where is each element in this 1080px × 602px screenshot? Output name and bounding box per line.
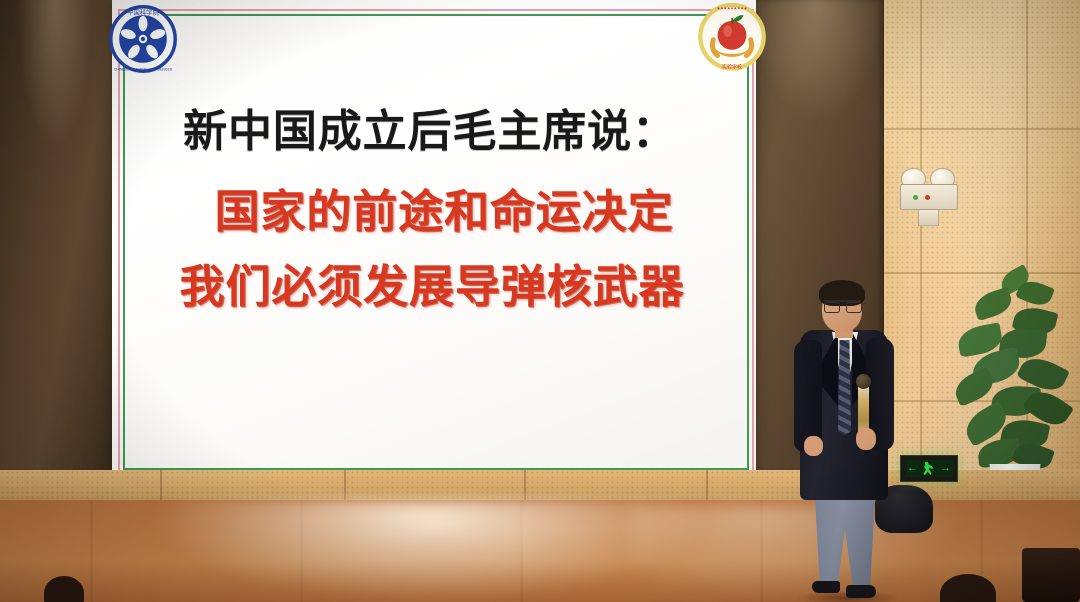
slide-line-1: 国家的前途和命运决定 xyxy=(214,175,673,240)
emergency-indicator-red xyxy=(925,195,930,200)
presenter-hand-left xyxy=(804,436,823,456)
chair-silhouette xyxy=(1022,548,1080,602)
presenter-arm-left xyxy=(794,340,822,452)
presenter-tie xyxy=(838,340,851,435)
audience-silhouette-left xyxy=(44,576,84,602)
svg-text:CHINESE ACADEMY OF SCIENCES: CHINESE ACADEMY OF SCIENCES xyxy=(114,68,173,72)
exit-sign: ← → xyxy=(900,455,958,482)
presenter xyxy=(786,278,906,602)
presenter-glasses-icon xyxy=(824,300,861,311)
floor-light-reflection xyxy=(150,500,710,602)
cas-logo-icon: 中国科学院 CHINESE ACADEMY OF SCIENCES xyxy=(108,4,178,74)
emergency-indicator-green xyxy=(913,195,918,200)
slide-text-block: 新中国成立后毛主席说： 国家的前途和命运决定 我们必须发展导弹核武器 xyxy=(123,14,745,466)
exit-arrow-left-icon: ← xyxy=(907,463,918,474)
exit-arrow-right-icon: → xyxy=(940,463,951,474)
wall-socket-plate xyxy=(918,209,939,226)
slide-line-2: 我们必须发展导弹核武器 xyxy=(180,250,685,315)
apple-school-logo-icon: ★★★★★★★★★ 实验学校 xyxy=(696,2,768,78)
presenter-shoe-right xyxy=(846,585,876,598)
presenter-hand-right xyxy=(856,428,876,450)
left-wall-panel xyxy=(0,0,112,492)
svg-text:★★★★★★★★★: ★★★★★★★★★ xyxy=(717,6,748,10)
presenter-shoe-left xyxy=(812,581,840,593)
presenter-trousers xyxy=(812,490,878,588)
running-person-icon xyxy=(923,462,936,475)
emergency-light xyxy=(898,168,958,208)
slide-heading: 新中国成立后毛主席说： xyxy=(183,95,677,159)
svg-text:中国科学院: 中国科学院 xyxy=(127,8,159,17)
projection-screen: 新中国成立后毛主席说： 国家的前途和命运决定 我们必须发展导弹核武器 xyxy=(112,0,756,486)
microphone-head-icon xyxy=(856,374,871,389)
lecture-hall-scene: 新中国成立后毛主席说： 国家的前途和命运决定 我们必须发展导弹核武器 中国科学院… xyxy=(0,0,1080,602)
svg-text:实验学校: 实验学校 xyxy=(722,63,742,70)
